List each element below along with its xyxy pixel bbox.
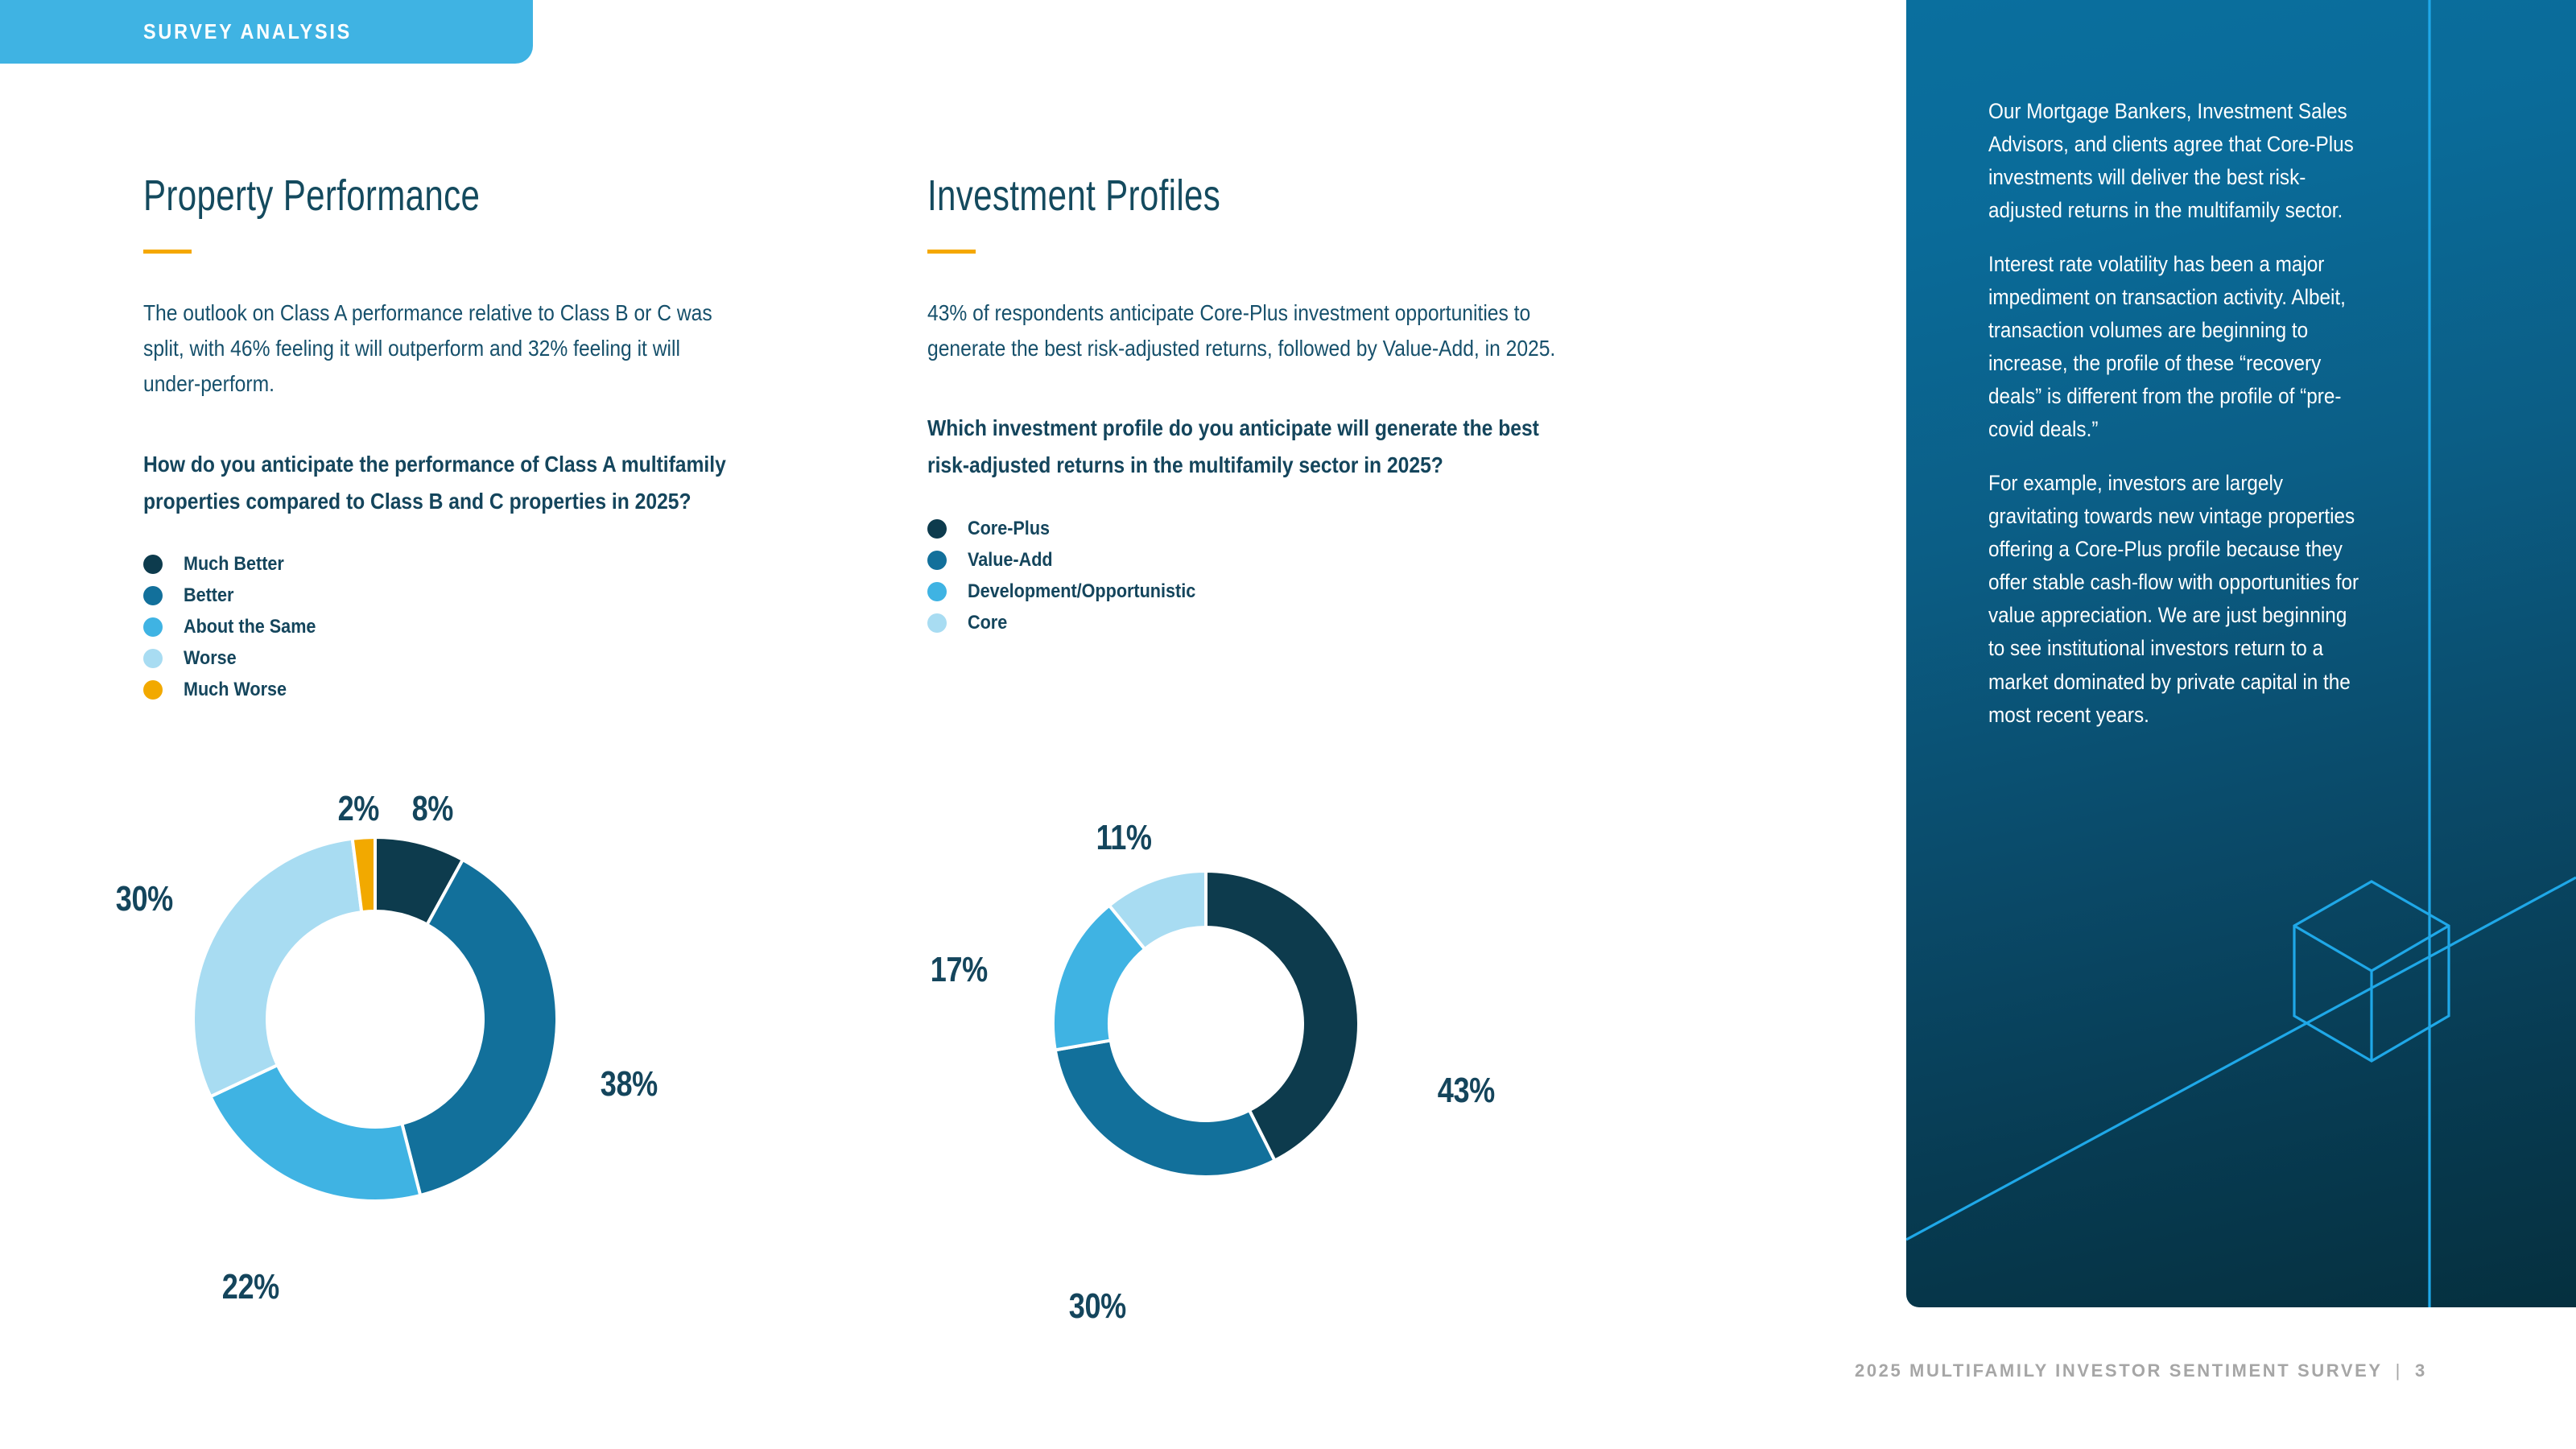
section-tab-survey-analysis: SURVEY ANALYSIS	[0, 0, 533, 64]
survey-question-investment-profiles: Which investment profile do you anticipa…	[927, 410, 1565, 484]
donut-slice	[1055, 1040, 1275, 1177]
sidebar-paragraph: For example, investors are largely gravi…	[1988, 467, 2365, 731]
page-title-investment-profiles: Investment Profiles	[927, 174, 1492, 217]
legend-item: Development/Opportunistic	[927, 576, 1652, 607]
donut-slice-label-better: 38%	[601, 1064, 658, 1104]
legend-item-label: About the Same	[184, 616, 316, 638]
gold-rule-divider	[143, 250, 192, 254]
legend-swatch-icon	[143, 586, 163, 605]
legend-item: Much Worse	[143, 675, 819, 706]
legend-item: Better	[143, 580, 819, 612]
donut-slice	[193, 839, 361, 1096]
donut-slice-label-core-plus: 43%	[1438, 1071, 1495, 1111]
legend-item: Worse	[143, 643, 819, 675]
section-tab-label: SURVEY ANALYSIS	[143, 19, 352, 44]
legend-item-label: Core-Plus	[968, 518, 1050, 540]
sidebar-paragraph: Interest rate volatility has been a majo…	[1988, 248, 2365, 446]
legend-swatch-icon	[927, 519, 947, 539]
column-property-performance: Property Performance The outlook on Clas…	[143, 174, 819, 706]
donut-slice-label-much-better: 8%	[412, 789, 453, 829]
legend-swatch-icon	[927, 613, 947, 633]
legend-investment-profiles: Core-Plus Value-Add Development/Opportun…	[927, 513, 1652, 638]
legend-item: Value-Add	[927, 544, 1652, 576]
legend-swatch-icon	[927, 582, 947, 601]
legend-item-label: Better	[184, 584, 233, 607]
legend-item-label: Worse	[184, 647, 237, 670]
legend-item-label: Much Better	[184, 553, 284, 576]
legend-swatch-icon	[143, 555, 163, 574]
donut-slice-label-worse: 30%	[116, 879, 173, 919]
sidebar-commentary-panel: Our Mortgage Bankers, Investment Sales A…	[1906, 0, 2576, 1307]
gold-rule-divider	[927, 250, 976, 254]
legend-item-label: Much Worse	[184, 679, 287, 701]
footer: 2025 MULTIFAMILY INVESTOR SENTIMENT SURV…	[1855, 1360, 2427, 1381]
donut-slice	[211, 1065, 421, 1201]
footer-title: 2025 MULTIFAMILY INVESTOR SENTIMENT SURV…	[1855, 1360, 2383, 1381]
donut-slice-label-value-add: 30%	[1069, 1286, 1126, 1327]
legend-swatch-icon	[143, 680, 163, 700]
donut-slice-label-about-the-same: 22%	[222, 1267, 279, 1307]
donut-slice-label-much-worse: 2%	[338, 789, 379, 829]
lede-paragraph-property-performance: The outlook on Class A performance relat…	[143, 295, 738, 402]
legend-item: Core	[927, 607, 1652, 638]
survey-question-property-performance: How do you anticipate the performance of…	[143, 446, 738, 520]
donut-chart-property-performance	[193, 837, 557, 1201]
lede-paragraph-investment-profiles: 43% of respondents anticipate Core-Plus …	[927, 295, 1565, 366]
legend-item: Core-Plus	[927, 513, 1652, 544]
donut-chart-svg	[193, 837, 557, 1201]
donut-slice-label-development-opportunistic: 17%	[931, 950, 988, 990]
sidebar-commentary-text: Our Mortgage Bankers, Investment Sales A…	[1988, 95, 2407, 753]
donut-slice-label-core: 11%	[1096, 818, 1152, 858]
legend-item-label: Value-Add	[968, 549, 1053, 572]
legend-swatch-icon	[143, 617, 163, 637]
footer-separator: |	[2396, 1360, 2402, 1381]
page-title-property-performance: Property Performance	[143, 174, 671, 217]
legend-item-label: Development/Opportunistic	[968, 580, 1195, 603]
legend-item: Much Better	[143, 549, 819, 580]
legend-property-performance: Much Better Better About the Same Worse …	[143, 549, 819, 706]
column-investment-profiles: Investment Profiles 43% of respondents a…	[927, 174, 1652, 638]
sidebar-paragraph: Our Mortgage Bankers, Investment Sales A…	[1988, 95, 2365, 227]
legend-item: About the Same	[143, 612, 819, 643]
legend-swatch-icon	[143, 649, 163, 668]
page-number: 3	[2415, 1360, 2427, 1381]
legend-swatch-icon	[927, 551, 947, 570]
donut-chart-investment-profiles	[1053, 871, 1359, 1177]
survey-page: SURVEY ANALYSIS Property Performance The…	[0, 0, 2576, 1449]
donut-chart-svg	[1053, 871, 1359, 1177]
legend-item-label: Core	[968, 612, 1007, 634]
